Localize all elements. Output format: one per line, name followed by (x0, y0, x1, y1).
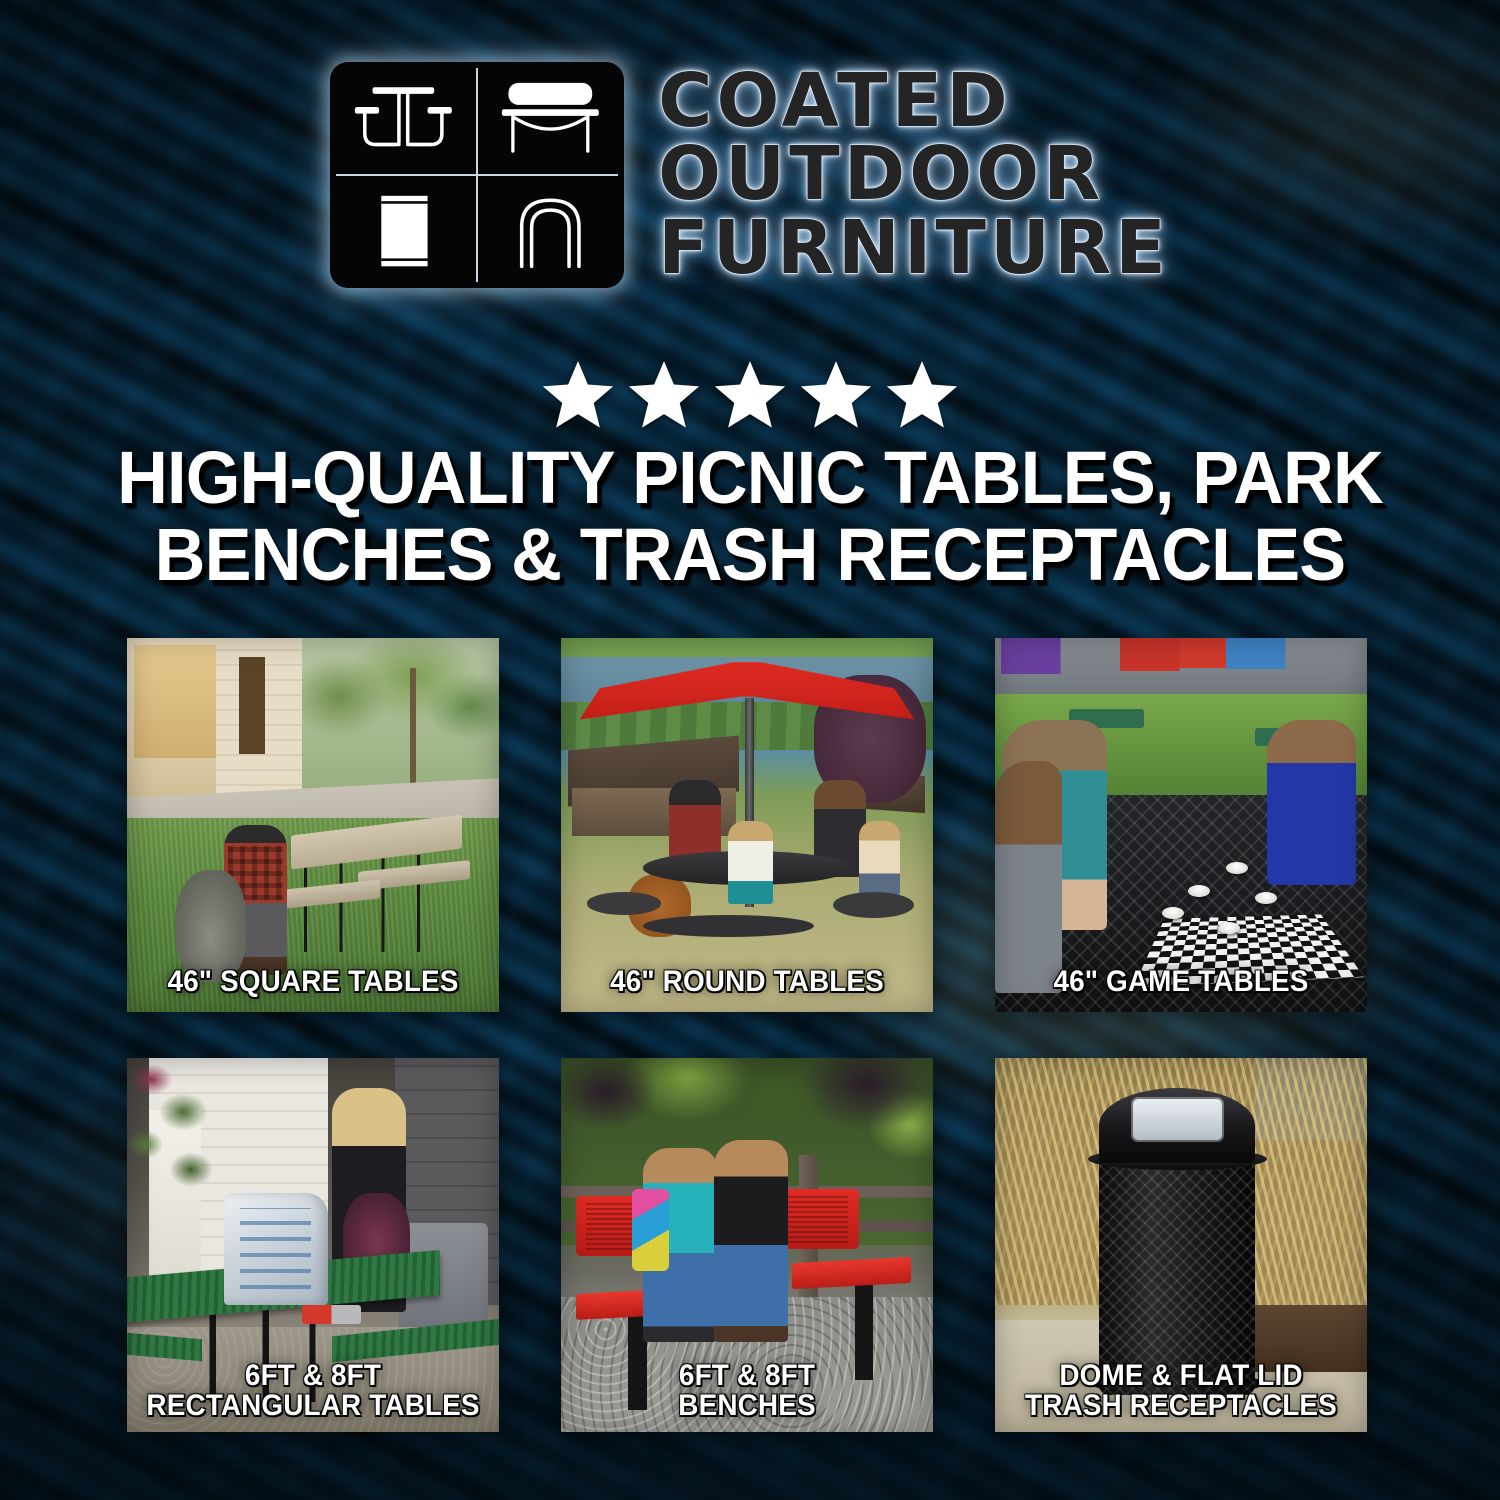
product-caption-line-2: RECTANGULAR TABLES (140, 1391, 486, 1422)
trash-receptacle-icon (330, 175, 477, 288)
star-icon (797, 358, 875, 432)
brand-header: COATED OUTDOOR FURNITURE (0, 62, 1500, 288)
bike-rack-icon (477, 175, 624, 288)
brand-wordmark: COATED OUTDOOR FURNITURE (658, 66, 1170, 283)
star-icon (883, 358, 961, 432)
logo-mark (330, 62, 624, 288)
product-photo-game-tables (995, 638, 1367, 1012)
star-icon (711, 358, 789, 432)
page-title: HIGH-QUALITY PICNIC TABLES, PARK BENCHES… (38, 440, 1463, 594)
brand-name-line-2: OUTDOOR (658, 139, 1170, 210)
brand-name-line-1: COATED (658, 66, 1170, 137)
product-caption: 46" GAME TABLES (1008, 967, 1354, 998)
product-tile-rectangular-tables[interactable]: 6FT & 8FT RECTANGULAR TABLES (127, 1058, 499, 1432)
star-rating (0, 358, 1500, 432)
star-icon (625, 358, 703, 432)
product-tile-square-tables[interactable]: 46" SQUARE TABLES (127, 638, 499, 1012)
product-caption: 6FT & 8FT RECTANGULAR TABLES (140, 1361, 486, 1422)
product-tile-game-tables[interactable]: 46" GAME TABLES (995, 638, 1367, 1012)
brand-name-line-3: FURNITURE (658, 213, 1170, 284)
product-caption: DOME & FLAT LID TRASH RECEPTACLES (1008, 1361, 1354, 1422)
headline-line-2: BENCHES & TRASH RECEPTACLES (38, 517, 1463, 594)
product-caption: 46" SQUARE TABLES (140, 967, 486, 998)
promo-banner: COATED OUTDOOR FURNITURE HIGH-QUALITY PI… (0, 0, 1500, 1500)
product-caption: 46" ROUND TABLES (574, 967, 920, 998)
product-photo-round-tables (561, 638, 933, 1012)
product-caption-line-1: 6FT & 8FT (140, 1361, 486, 1392)
product-caption-line-1: 46" ROUND TABLES (574, 967, 920, 998)
product-tile-round-tables[interactable]: 46" ROUND TABLES (561, 638, 933, 1012)
product-tile-benches[interactable]: 6FT & 8FT BENCHES (561, 1058, 933, 1432)
product-caption: 6FT & 8FT BENCHES (574, 1361, 920, 1422)
product-tile-trash-receptacles[interactable]: DOME & FLAT LID TRASH RECEPTACLES (995, 1058, 1367, 1432)
logo-divider-horizontal (336, 174, 618, 176)
product-caption-line-2: TRASH RECEPTACLES (1008, 1391, 1354, 1422)
headline-line-1: HIGH-QUALITY PICNIC TABLES, PARK (38, 440, 1463, 517)
star-icon (539, 358, 617, 432)
product-grid: 46" SQUARE TABLES 46" ROUND TABLES (127, 638, 1375, 1432)
product-caption-line-1: 6FT & 8FT (574, 1361, 920, 1392)
product-caption-line-1: 46" GAME TABLES (1008, 967, 1354, 998)
product-caption-line-2: BENCHES (574, 1391, 920, 1422)
product-caption-line-1: 46" SQUARE TABLES (140, 967, 486, 998)
product-caption-line-1: DOME & FLAT LID (1008, 1361, 1354, 1392)
picnic-table-icon (330, 62, 477, 175)
product-photo-square-tables (127, 638, 499, 1012)
bench-table-icon (477, 62, 624, 175)
